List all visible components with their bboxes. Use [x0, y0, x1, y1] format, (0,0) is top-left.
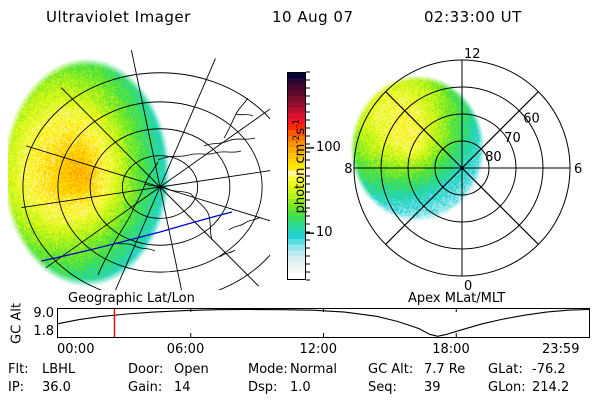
- strip-chart-ytick-low: 1.8: [20, 324, 54, 339]
- status-label-mode: Mode:: [248, 362, 288, 377]
- strip-chart-plot: [57, 308, 590, 338]
- unit-exponent-2: -1: [292, 119, 302, 128]
- status-label-gain: Gain:: [128, 380, 162, 395]
- status-value-dsp: 1.0: [290, 380, 311, 395]
- uvi-summary-screen: Ultraviolet Imager 10 Aug 07 02:33:00 UT…: [0, 0, 600, 400]
- status-value-seq: 39: [424, 380, 441, 395]
- strip-chart-xtick-3: 18:00: [432, 342, 469, 357]
- colorbar-unit-label: photon cm-2s-1: [292, 76, 308, 256]
- unit-mid: s: [293, 128, 308, 135]
- status-label-ip: IP:: [8, 380, 24, 395]
- geographic-image-panel: [8, 42, 270, 290]
- status-value-flt: LBHL: [42, 362, 75, 377]
- strip-chart-ytick-high: 9.0: [20, 306, 54, 321]
- colorbar: photon cm-2s-1 10010: [272, 62, 344, 292]
- status-block: Flt:LBHLIP:36.0Door:OpenGain:14Mode:Norm…: [0, 362, 600, 400]
- header: Ultraviolet Imager 10 Aug 07 02:33:00 UT: [0, 6, 600, 30]
- colorbar-tick-label-0: 100: [316, 140, 341, 155]
- apex-grid-overlay: 121860607080: [345, 40, 595, 292]
- status-label-glat: GLat:: [488, 362, 523, 377]
- status-value-glon: 214.2: [532, 380, 569, 395]
- instrument-title: Ultraviolet Imager: [46, 8, 191, 26]
- status-value-gcalt: 7.7 Re: [424, 362, 465, 377]
- unit-exponent-1: -2: [292, 135, 302, 144]
- geographic-grid-overlay: [8, 42, 270, 290]
- mlat-ring-label-80: 80: [485, 150, 502, 165]
- status-value-ip: 36.0: [42, 380, 71, 395]
- observation-date: 10 Aug 07: [272, 8, 354, 26]
- strip-chart-xtick-1: 06:00: [167, 342, 204, 357]
- status-value-glat: -76.2: [532, 362, 566, 377]
- observation-time: 02:33:00 UT: [424, 8, 522, 26]
- mlt-label-12: 12: [464, 47, 481, 62]
- colorbar-tick-label-1: 10: [316, 225, 333, 240]
- status-label-glon: GLon:: [488, 380, 526, 395]
- mlat-ring-label-70: 70: [504, 131, 521, 146]
- strip-chart-xtick-2: 12:00: [300, 342, 337, 357]
- mlat-ring-label-60: 60: [523, 112, 540, 127]
- status-label-flt: Flt:: [8, 362, 29, 377]
- strip-chart-xtick-0: 00:00: [57, 342, 94, 357]
- gc-altitude-strip-chart: GC Alt 9.0 1.8 00:0006:0012:0018:0023:59: [0, 304, 600, 356]
- unit-main: photon cm: [293, 144, 308, 214]
- status-label-gcalt: GC Alt:: [368, 362, 413, 377]
- strip-chart-xtick-4: 23:59: [542, 342, 579, 357]
- mlt-label-18: 18: [345, 162, 353, 177]
- status-label-door: Door:: [128, 362, 163, 377]
- status-value-mode: Normal: [290, 362, 337, 377]
- status-label-seq: Seq:: [368, 380, 397, 395]
- apex-polar-panel: 121860607080: [345, 40, 595, 292]
- status-label-dsp: Dsp:: [248, 380, 277, 395]
- status-value-door: Open: [174, 362, 209, 377]
- mlt-label-6: 6: [574, 162, 582, 177]
- status-value-gain: 14: [174, 380, 191, 395]
